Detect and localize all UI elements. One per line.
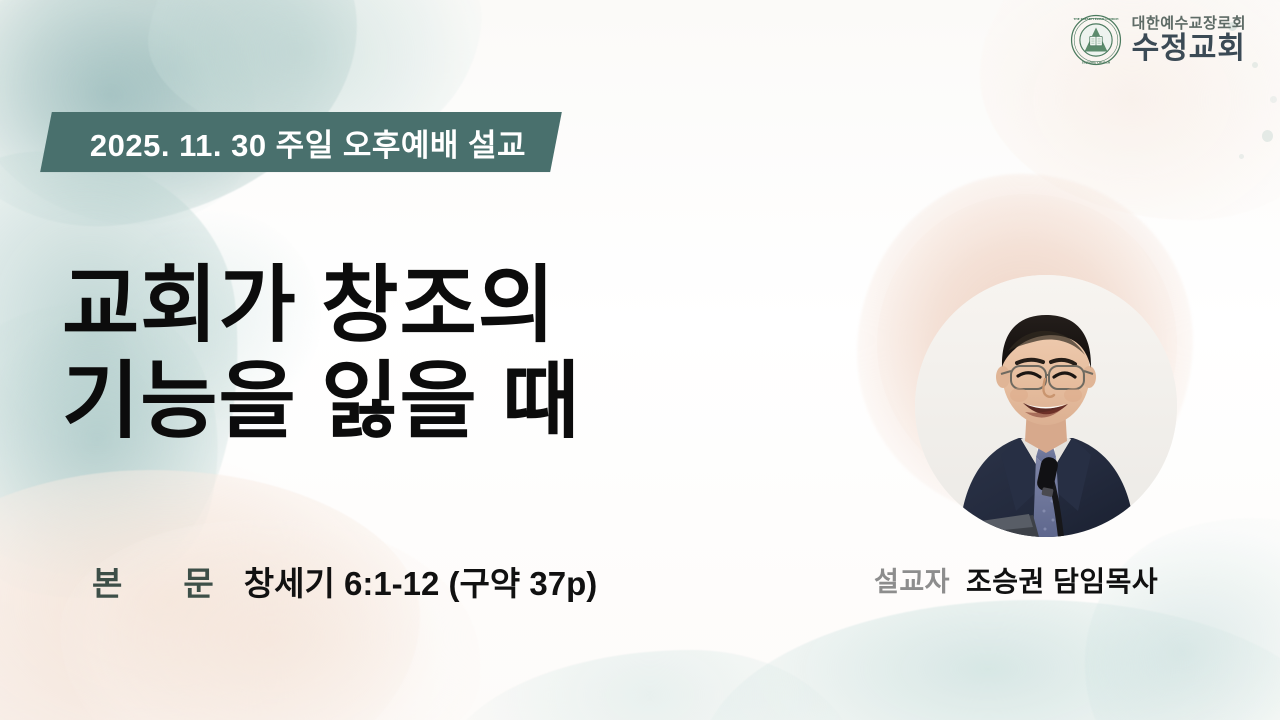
church-logo-text: 대한예수교장로회 수정교회 xyxy=(1132,16,1246,64)
preacher-name: 조승권 담임목사 xyxy=(966,560,1158,600)
church-name-label: 수정교회 xyxy=(1132,34,1246,64)
church-seal-icon: THE PRESBYTERIAN CHURCH SUJEONG CHURCH xyxy=(1070,14,1122,66)
speckle-dot xyxy=(1262,130,1273,142)
sermon-title-line-1: 교회가 창조의 xyxy=(62,258,580,354)
speckle-dot xyxy=(1239,154,1244,159)
preacher-photo xyxy=(915,275,1177,537)
preacher-portrait xyxy=(843,168,1207,540)
sermon-title-card: THE PRESBYTERIAN CHURCH SUJEONG CHURCH 대… xyxy=(0,0,1280,720)
preacher-label: 설교자 xyxy=(874,560,950,599)
service-date-label: 2025. 11. 30 주일 오후예배 설교 xyxy=(90,120,526,165)
speckle-dot xyxy=(1270,96,1277,103)
church-logo: THE PRESBYTERIAN CHURCH SUJEONG CHURCH 대… xyxy=(1070,14,1246,66)
scripture-label: 본 문 xyxy=(92,557,228,605)
preacher-row: 설교자 조승권 담임목사 xyxy=(874,560,1158,600)
scripture-reference-row: 본 문 창세기 6:1-12 (구약 37p) xyxy=(92,557,597,605)
svg-text:THE PRESBYTERIAN CHURCH: THE PRESBYTERIAN CHURCH xyxy=(1073,17,1119,21)
svg-text:SUJEONG CHURCH: SUJEONG CHURCH xyxy=(1081,60,1110,64)
speckle-dot xyxy=(1252,62,1258,68)
sermon-title: 교회가 창조의 기능을 잃을 때 xyxy=(62,258,580,450)
denomination-label: 대한예수교장로회 xyxy=(1132,16,1246,31)
service-date-banner: 2025. 11. 30 주일 오후예배 설교 xyxy=(40,112,562,172)
scripture-reference: 창세기 6:1-12 (구약 37p) xyxy=(244,557,598,605)
sermon-title-line-2: 기능을 잃을 때 xyxy=(62,354,580,450)
